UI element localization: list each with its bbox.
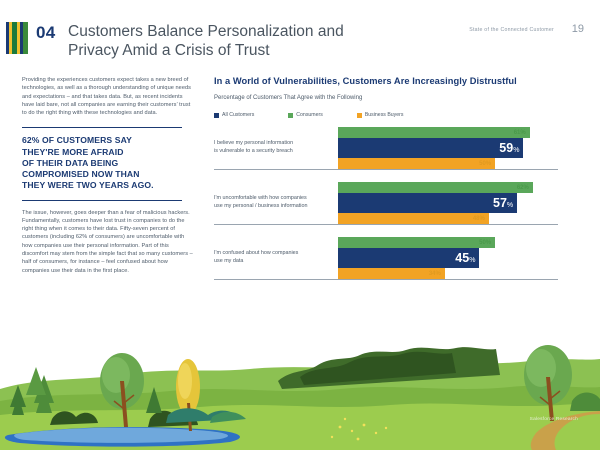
bar-value-label: 59%: [499, 141, 519, 155]
chart-legend: All CustomersConsumersBusiness Buyers: [214, 112, 586, 118]
category-label: I'm uncomfortable with how companiesuse …: [214, 195, 332, 210]
bar-stack: 61%59%50%: [338, 127, 586, 173]
bar-value-suffix: %: [507, 202, 513, 209]
pull-quote-line-4: COMPROMISED NOW THAN: [22, 169, 194, 180]
bar-business-buyers[interactable]: 50%: [338, 158, 495, 169]
bar-business-buyers[interactable]: 48%: [338, 213, 489, 224]
chart-title: In a World of Vulnerabilities, Customers…: [214, 76, 586, 86]
page-title-line-2: Privacy Amid a Crisis of Trust: [68, 41, 398, 60]
category-axis-line: [214, 169, 558, 170]
chapter-flag-icon: [6, 22, 28, 54]
category-label-line-2: is vulnerable to a security breach: [214, 148, 332, 156]
bar-consumers[interactable]: 50%: [338, 237, 495, 248]
legend-swatch-icon: [214, 113, 219, 118]
legend-item[interactable]: Business Buyers: [357, 112, 404, 118]
bar-group: I'm confused about how companiesuse my d…: [214, 237, 586, 283]
intro-paragraph: Providing the experiences customers expe…: [22, 76, 194, 117]
bar-value-label: 62%: [517, 185, 529, 191]
category-label-line-2: use my personal / business information: [214, 203, 332, 211]
legend-label: Consumers: [296, 112, 323, 118]
body-paragraph: The issue, however, goes deeper than a f…: [22, 209, 194, 275]
pull-quote-rule-top: [22, 127, 182, 128]
category-label-line-1: I'm confused about how companies: [214, 250, 332, 258]
legend-swatch-icon: [357, 113, 362, 118]
chart-panel: In a World of Vulnerabilities, Customers…: [214, 76, 586, 292]
bar-value-label: 50%: [479, 240, 491, 246]
bar-all-customers[interactable]: 45%: [338, 248, 479, 268]
bar-consumers[interactable]: 62%: [338, 182, 533, 193]
page-header: 04 Customers Balance Personalization and…: [0, 0, 600, 62]
bar-stack: 62%57%48%: [338, 182, 586, 228]
page-title: Customers Balance Personalization and Pr…: [68, 22, 398, 60]
pull-quote: 62% OF CUSTOMERS SAYTHEY'RE MORE AFRAIDO…: [22, 135, 194, 191]
bar-value-label: 48%: [473, 216, 485, 222]
bar-row[interactable]: 61%: [338, 127, 586, 138]
bar-value-label: 61%: [514, 130, 526, 136]
pull-quote-line-2: THEY'RE MORE AFRAID: [22, 147, 194, 158]
category-label-line-2: use my data: [214, 258, 332, 266]
chart-plot-area: I believe my personal informationis vuln…: [214, 127, 586, 283]
pull-quote-rule-bottom: [22, 200, 182, 201]
bar-value-suffix: %: [469, 257, 475, 264]
legend-item[interactable]: Consumers: [288, 112, 323, 118]
landscape-illustration: [0, 315, 600, 450]
bar-value-suffix: %: [513, 147, 519, 154]
category-label-line-1: I believe my personal information: [214, 140, 332, 148]
bar-all-customers[interactable]: 59%: [338, 138, 523, 158]
flag-bar-5: [23, 22, 28, 54]
bar-row[interactable]: 50%: [338, 158, 586, 169]
pull-quote-line-3: OF THEIR DATA BEING: [22, 158, 194, 169]
chapter-number: 04: [36, 23, 56, 43]
legend-label: All Customers: [222, 112, 254, 118]
page-title-line-1: Customers Balance Personalization and: [68, 22, 398, 41]
page-number: 19: [572, 23, 584, 35]
bar-group: I believe my personal informationis vuln…: [214, 127, 586, 173]
category-label: I believe my personal informationis vuln…: [214, 140, 332, 155]
pull-quote-line-1: 62% OF CUSTOMERS SAY: [22, 135, 194, 146]
bar-row[interactable]: 62%: [338, 182, 586, 193]
bar-value-label: 34%: [429, 271, 441, 277]
chart-subtitle: Percentage of Customers That Agree with …: [214, 95, 586, 101]
legend-label: Business Buyers: [365, 112, 404, 118]
running-head: State of the Connected Customer: [469, 27, 554, 33]
bar-value-label: 57%: [493, 196, 513, 210]
bar-row[interactable]: 59%: [338, 138, 586, 158]
category-axis-line: [214, 224, 558, 225]
bar-row[interactable]: 50%: [338, 237, 586, 248]
bar-row[interactable]: 57%: [338, 193, 586, 213]
legend-swatch-icon: [288, 113, 293, 118]
legend-item[interactable]: All Customers: [214, 112, 254, 118]
left-text-column: Providing the experiences customers expe…: [22, 76, 194, 275]
bar-value-label: 45%: [455, 251, 475, 265]
pull-quote-line-5: THEY WERE TWO YEARS AGO.: [22, 180, 194, 191]
footer-credit: Salesforce Research: [530, 417, 578, 422]
category-axis-line: [214, 279, 558, 280]
bar-row[interactable]: 34%: [338, 268, 586, 279]
bar-stack: 50%45%34%: [338, 237, 586, 283]
bar-all-customers[interactable]: 57%: [338, 193, 517, 213]
bar-row[interactable]: 48%: [338, 213, 586, 224]
bar-row[interactable]: 45%: [338, 248, 586, 268]
bar-consumers[interactable]: 61%: [338, 127, 530, 138]
category-label-line-1: I'm uncomfortable with how companies: [214, 195, 332, 203]
bar-value-label: 50%: [479, 161, 491, 167]
bar-group: I'm uncomfortable with how companiesuse …: [214, 182, 586, 228]
category-label: I'm confused about how companiesuse my d…: [214, 250, 332, 265]
bar-business-buyers[interactable]: 34%: [338, 268, 445, 279]
